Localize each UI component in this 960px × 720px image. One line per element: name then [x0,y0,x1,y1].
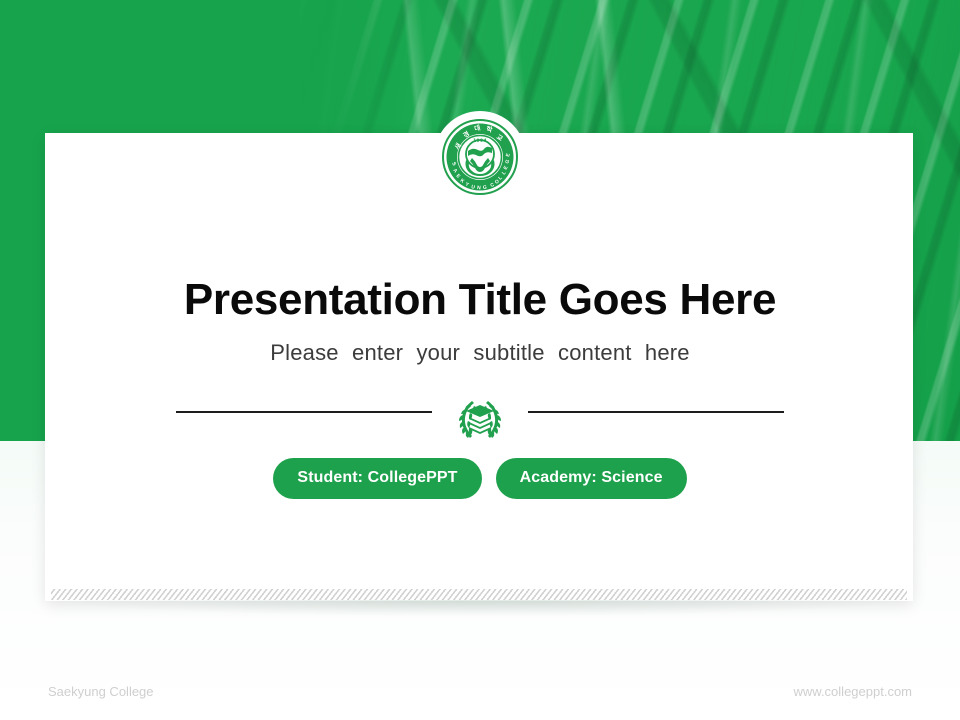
academy-pill[interactable]: Academy: Science [496,458,687,499]
footer-website-label: www.collegeppt.com [794,684,913,699]
svg-text:G: G [483,185,488,191]
saekyung-college-seal-icon: 새 경 대 학 교 1994 S A E K Y U N G C O L L [441,118,519,196]
page-title: Presentation Title Goes Here [0,276,960,324]
student-pill[interactable]: Student: CollegePPT [273,458,481,499]
svg-text:1994: 1994 [473,138,487,144]
presentation-slide: 새 경 대 학 교 1994 S A E K Y U N G C O L L [0,0,960,720]
divider [0,395,960,441]
card-bottom-shadow [58,600,900,616]
divider-line-left [176,411,432,413]
page-subtitle: Please enter your subtitle content here [0,340,960,366]
card-bottom-hatch-strip [51,589,907,600]
footer-institution-label: Saekyung College [48,684,154,699]
tag-pill-group: Student: CollegePPT Academy: Science [0,458,960,499]
graduation-cap-laurel-emblem-icon [452,395,508,441]
college-logo: 새 경 대 학 교 1994 S A E K Y U N G C O L L [434,111,526,203]
divider-line-right [528,411,784,413]
